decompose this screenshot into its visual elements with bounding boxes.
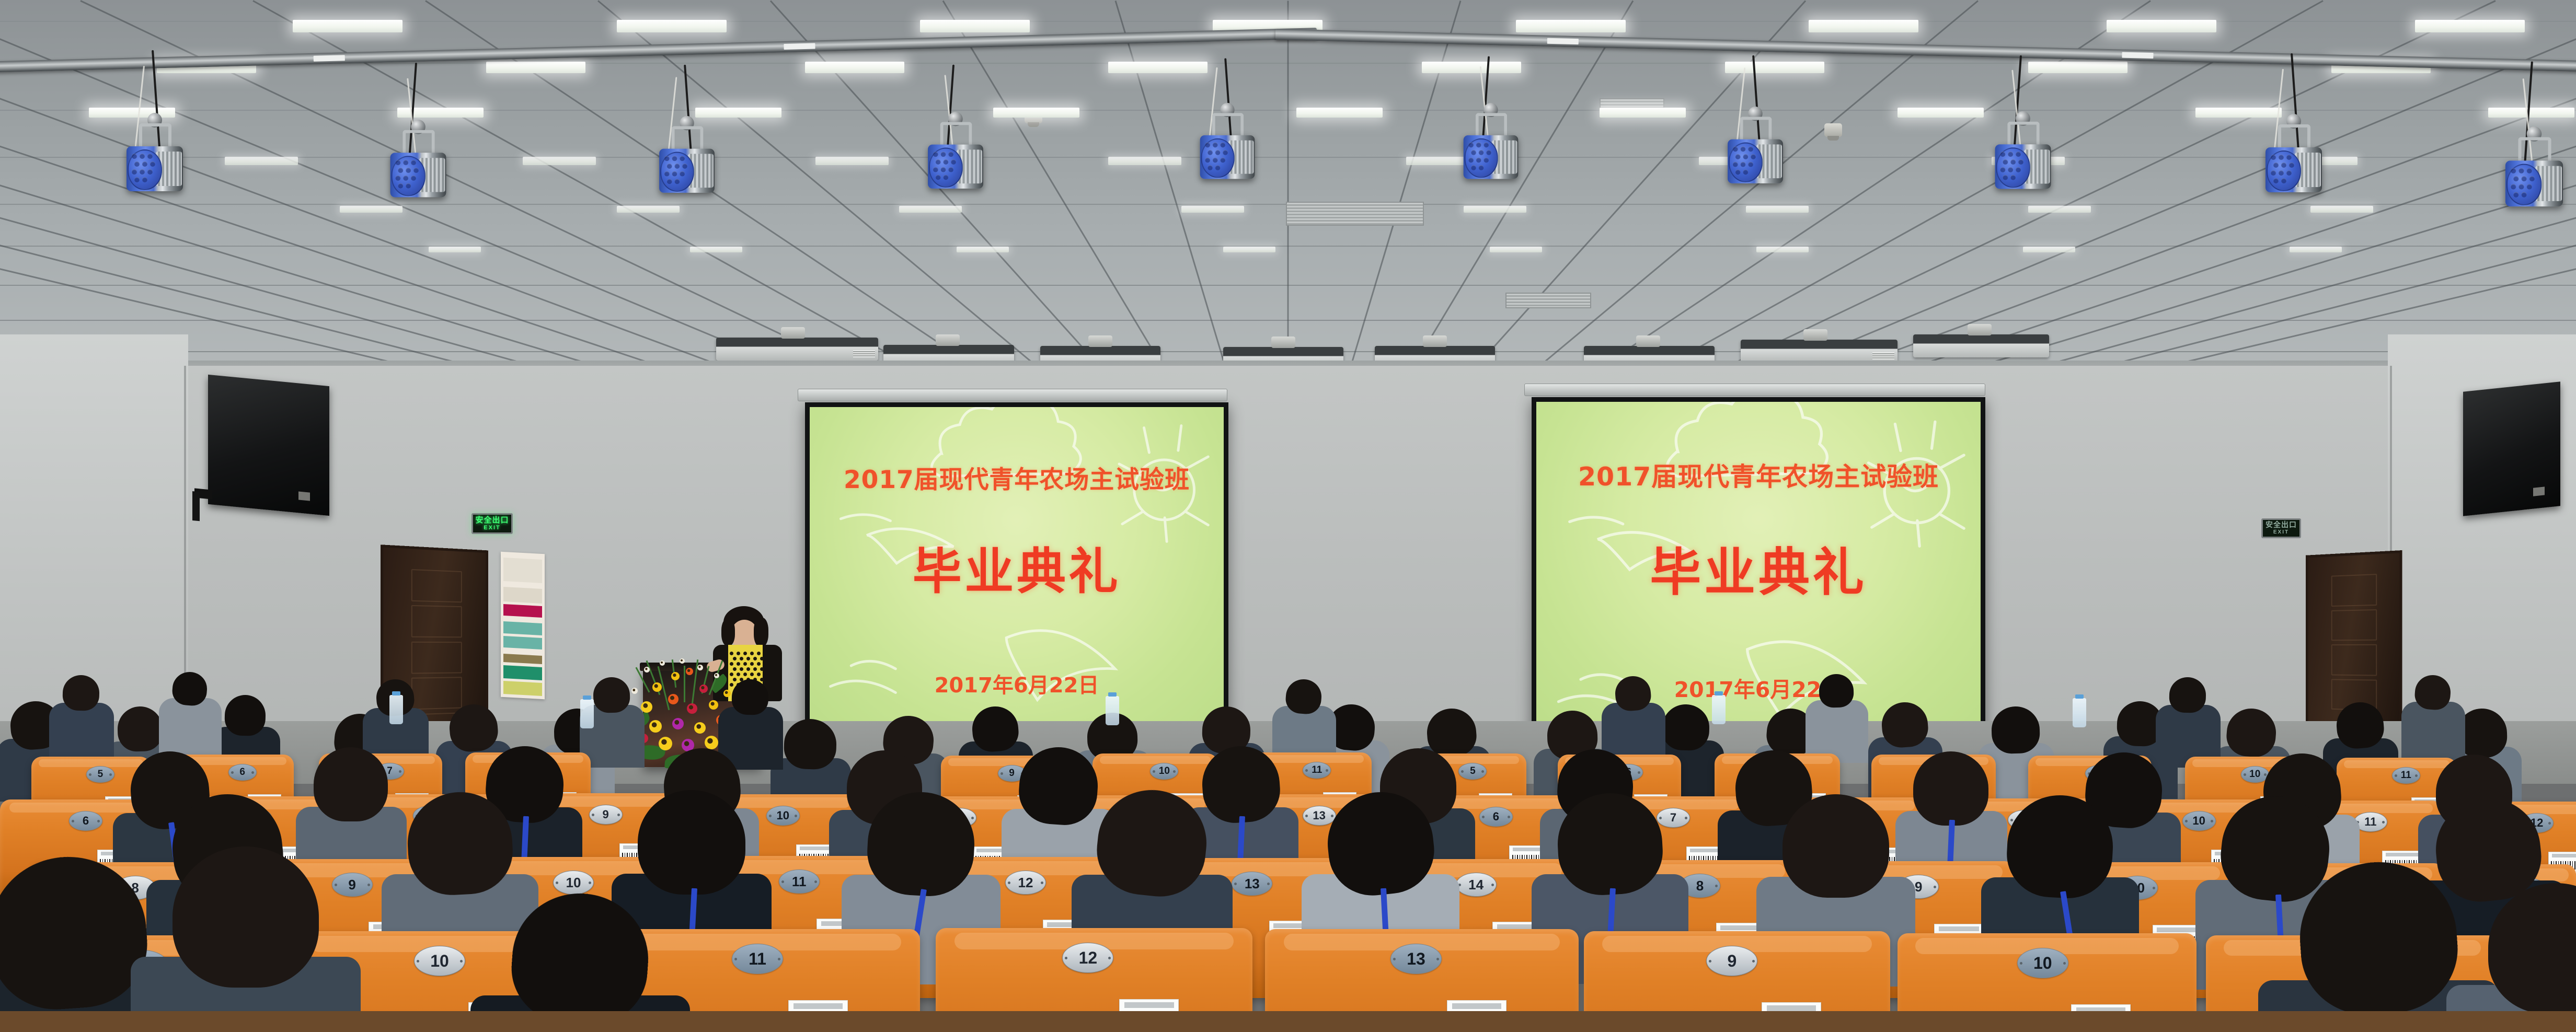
fluorescent-light bbox=[1516, 20, 1626, 32]
fluorescent-light bbox=[1108, 157, 1181, 165]
plate-rivet bbox=[589, 882, 591, 884]
asset-tag-header bbox=[2552, 854, 2576, 857]
plate-rivet bbox=[1326, 769, 1328, 772]
fluorescent-light bbox=[2415, 20, 2525, 32]
ceiling-air-vent bbox=[1505, 293, 1591, 308]
light-body bbox=[2265, 147, 2322, 192]
seat-number-label: 6 bbox=[83, 814, 89, 828]
plate-rivet bbox=[1000, 772, 1003, 775]
exit-sign-left: 安全出口 EXIT bbox=[471, 513, 513, 534]
seat-number-label: 9 bbox=[1727, 952, 1736, 971]
projector-mount bbox=[1803, 329, 1827, 341]
audience-member-head bbox=[1913, 751, 1988, 826]
audience-member-head bbox=[638, 790, 745, 895]
seat-number-label: 9 bbox=[348, 877, 355, 893]
exit-sign-chinese-label: 安全出口 bbox=[2265, 521, 2297, 529]
plate-rivet bbox=[617, 814, 620, 816]
light-body bbox=[928, 145, 983, 189]
plate-rivet bbox=[971, 817, 974, 819]
water-bottle bbox=[1106, 696, 1119, 725]
light-body bbox=[2505, 160, 2563, 206]
fluorescent-light bbox=[1725, 62, 1824, 73]
fluorescent-light bbox=[2028, 62, 2127, 73]
exit-sign-english-label: EXIT bbox=[484, 525, 500, 531]
lens-dimple-pattern bbox=[933, 152, 957, 181]
plate-rivet bbox=[109, 773, 112, 776]
bouquet-flower bbox=[649, 720, 662, 733]
stage-par-light bbox=[388, 130, 450, 208]
seat-number-plate: 12 bbox=[1005, 871, 1046, 895]
bouquet-flower bbox=[686, 668, 693, 675]
speaker-post bbox=[192, 491, 200, 521]
ceiling-projector bbox=[1741, 340, 1897, 363]
bouquet-flower bbox=[641, 701, 652, 713]
seat-number-plate: 6 bbox=[1479, 807, 1513, 827]
fluorescent-light bbox=[523, 157, 596, 165]
projector-mount bbox=[1636, 335, 1660, 347]
plate-rivet bbox=[251, 771, 254, 774]
bouquet-flower bbox=[631, 688, 638, 694]
ceiling-tile-line bbox=[0, 246, 2576, 247]
plate-rivet bbox=[1234, 883, 1237, 885]
plate-rivet bbox=[1436, 958, 1439, 960]
bouquet-flower bbox=[687, 703, 697, 714]
plate-rivet bbox=[1482, 816, 1485, 818]
door-panel bbox=[411, 677, 462, 710]
seat-number-plate: 7 bbox=[1657, 808, 1690, 828]
plate-rivet bbox=[1305, 769, 1308, 772]
plate-rivet bbox=[1638, 771, 1640, 774]
plate-rivet bbox=[1709, 960, 1711, 963]
lens-dimple-pattern bbox=[2271, 155, 2295, 185]
speaker-badge bbox=[298, 492, 310, 501]
seat-number-label: 9 bbox=[603, 808, 609, 821]
seat-number-plate: 6 bbox=[228, 764, 257, 781]
seat-number-label: 9 bbox=[1915, 879, 1922, 895]
bouquet-flower bbox=[714, 673, 719, 678]
asset-tag-header bbox=[1452, 1003, 1501, 1009]
plate-rivet bbox=[1108, 957, 1111, 959]
seat-number-plate: 11 bbox=[1303, 762, 1331, 779]
left-screen-surface: 2017届现代青年农场主试验班 毕业典礼 2017年6月22日 bbox=[810, 407, 1224, 731]
water-bottle bbox=[1712, 695, 1726, 724]
fluorescent-light bbox=[1490, 247, 1542, 252]
seat-number-plate: 13 bbox=[1232, 872, 1272, 896]
bouquet-flower bbox=[644, 667, 650, 672]
light-body bbox=[659, 149, 715, 193]
projector-mount bbox=[936, 334, 960, 346]
fluorescent-light bbox=[695, 108, 781, 118]
fluorescent-light bbox=[1746, 206, 1809, 213]
lens-dimple-pattern bbox=[2511, 168, 2535, 199]
fluorescent-light bbox=[1464, 206, 1526, 213]
fluorescent-light bbox=[2028, 206, 2091, 213]
light-body bbox=[390, 153, 446, 197]
seat-number-label: 9 bbox=[1009, 768, 1015, 779]
bottle-cap bbox=[1108, 692, 1117, 697]
lens-dimple-pattern bbox=[1733, 146, 1756, 176]
plate-rivet bbox=[231, 771, 234, 774]
water-bottle bbox=[389, 695, 403, 724]
lens-dimple-pattern bbox=[664, 156, 688, 185]
fluorescent-light bbox=[1897, 108, 1984, 118]
slide-title: 2017届现代青年农场主试验班 bbox=[844, 459, 1190, 495]
plate-rivet bbox=[1685, 817, 1687, 819]
seat-number-label: 12 bbox=[1018, 875, 1033, 891]
bouquet-flower bbox=[660, 660, 665, 666]
bottle-cap bbox=[2075, 694, 2084, 699]
stage-par-light bbox=[1198, 113, 1258, 189]
plate-rivet bbox=[814, 880, 817, 883]
plate-rivet bbox=[1659, 817, 1662, 819]
plate-rivet bbox=[417, 960, 419, 963]
seat-number-label: 11 bbox=[749, 949, 766, 969]
fluorescent-light bbox=[293, 20, 402, 32]
plate-rivet bbox=[399, 770, 401, 773]
seat-number-plate: 13 bbox=[1390, 944, 1442, 974]
fluorescent-light bbox=[815, 157, 889, 165]
fluorescent-light bbox=[1756, 247, 1809, 252]
seat-number-plate: 13 bbox=[1303, 806, 1336, 826]
projector-mount bbox=[1968, 324, 1992, 335]
seat-number-label: 11 bbox=[2401, 770, 2411, 781]
ceiling-tile-line bbox=[0, 63, 2576, 64]
plate-rivet bbox=[2395, 774, 2397, 777]
ceiling-tile-line bbox=[0, 110, 2576, 111]
plate-rivet bbox=[1491, 884, 1494, 886]
plate-rivet bbox=[2211, 820, 2213, 822]
stage-par-light bbox=[926, 122, 986, 199]
fluorescent-light bbox=[1600, 108, 1686, 118]
plate-rivet bbox=[1752, 960, 1755, 963]
audience-member-head bbox=[117, 706, 163, 752]
seat-number-plate: 11 bbox=[732, 944, 783, 974]
audience-member-head bbox=[1991, 706, 2040, 754]
plate-rivet bbox=[1065, 957, 1067, 959]
plate-rivet bbox=[1393, 958, 1396, 960]
audience-member-head bbox=[1819, 674, 1854, 708]
fluorescent-light bbox=[899, 206, 962, 213]
plate-rivet bbox=[2264, 773, 2267, 776]
projector-vent bbox=[853, 350, 875, 357]
fluorescent-light bbox=[2023, 247, 2075, 252]
bouquet-flower bbox=[709, 700, 718, 710]
wall-speaker bbox=[208, 375, 329, 516]
speaker-badge bbox=[2533, 487, 2545, 496]
plate-rivet bbox=[1173, 770, 1176, 773]
light-body bbox=[1464, 135, 1519, 179]
seat-number-label: 10 bbox=[1159, 766, 1170, 777]
bouquet-flower bbox=[672, 718, 684, 729]
exit-sign-right: 安全出口 EXIT bbox=[2261, 518, 2301, 538]
audience-member-head bbox=[1782, 794, 1889, 898]
seat-number-plate: 14 bbox=[1456, 873, 1497, 897]
smoke-detector-icon bbox=[1824, 123, 1842, 137]
seat-number-plate: 10 bbox=[414, 946, 465, 976]
audience-member-head bbox=[731, 679, 769, 715]
seat-number-label: 7 bbox=[387, 766, 393, 777]
slide-main-heading: 毕业典礼 bbox=[913, 532, 1121, 603]
seat-number-label: 5 bbox=[98, 769, 103, 780]
poster-row bbox=[503, 587, 542, 604]
plate-rivet bbox=[367, 884, 370, 886]
fluorescent-light bbox=[805, 62, 904, 73]
seat-number-label: 13 bbox=[1313, 809, 1325, 822]
ceiling-tile-line bbox=[0, 285, 2576, 286]
seat-number-label: 6 bbox=[1493, 810, 1499, 824]
left-slide-text: 2017届现代青年农场主试验班 毕业典礼 2017年6月22日 bbox=[810, 407, 1224, 731]
fluorescent-light bbox=[993, 108, 1079, 118]
seat-highlight bbox=[9, 803, 147, 813]
audience-member-head bbox=[224, 694, 266, 736]
truss-label bbox=[1547, 38, 1579, 44]
lens-dimple-pattern bbox=[132, 154, 156, 184]
truss-label bbox=[784, 43, 815, 50]
plate-rivet bbox=[2382, 821, 2385, 824]
asset-tag-header bbox=[2386, 853, 2418, 856]
ceiling-projector bbox=[716, 338, 878, 361]
seat-number-plate: 10 bbox=[2017, 948, 2068, 978]
door-panel bbox=[2331, 609, 2377, 641]
wall-speaker bbox=[2463, 381, 2560, 516]
plate-rivet bbox=[1008, 882, 1010, 884]
auditorium-scene: 安全出口 EXIT 安全出口 EXIT bbox=[0, 0, 2576, 1032]
slide-date: 2017年6月22日 bbox=[935, 668, 1099, 699]
bouquet-stem bbox=[684, 666, 685, 702]
bouquet-flower bbox=[659, 737, 672, 750]
door-panel bbox=[411, 569, 462, 602]
asset-tag-header bbox=[1939, 926, 1979, 931]
seat-number-plate: 11 bbox=[2392, 767, 2420, 784]
plate-rivet bbox=[1934, 886, 1936, 888]
stage-par-light bbox=[657, 126, 718, 203]
fluorescent-light bbox=[486, 62, 585, 73]
door-panel bbox=[2331, 644, 2377, 676]
ceiling-tile-line bbox=[0, 320, 2576, 321]
seat-highlight bbox=[2344, 760, 2449, 768]
fluorescent-light bbox=[617, 206, 680, 213]
bouquet-flower bbox=[668, 694, 678, 704]
fluorescent-light bbox=[1223, 247, 1275, 252]
audience-member-head bbox=[314, 747, 388, 821]
slide-main-heading: 毕业典礼 bbox=[1650, 531, 1867, 605]
fluorescent-light bbox=[1108, 62, 1207, 73]
plate-rivet bbox=[2153, 887, 2155, 889]
seat-number-label: 10 bbox=[566, 875, 581, 891]
stage-par-light bbox=[1726, 117, 1786, 194]
poster-row bbox=[503, 622, 542, 635]
bouquet-flower bbox=[723, 690, 731, 697]
plate-rivet bbox=[89, 773, 91, 776]
seat-number-label: 13 bbox=[1245, 876, 1260, 892]
plate-rivet bbox=[97, 820, 100, 822]
plate-rivet bbox=[592, 814, 594, 816]
left-screen: 2017届现代青年农场主试验班 毕业典礼 2017年6月22日 bbox=[805, 402, 1228, 736]
exit-sign-chinese-label: 安全出口 bbox=[475, 516, 509, 524]
bouquet-flower bbox=[652, 682, 662, 692]
seat-number-label: 10 bbox=[430, 952, 449, 971]
fluorescent-light bbox=[957, 247, 1009, 252]
plate-rivet bbox=[2185, 820, 2188, 822]
plate-rivet bbox=[72, 820, 74, 822]
water-bottle bbox=[2073, 698, 2086, 727]
seat-number-label: 14 bbox=[1468, 877, 1483, 893]
bouquet-flower bbox=[694, 722, 706, 734]
seat-number-label: 11 bbox=[1312, 764, 1322, 776]
lens-dimple-pattern bbox=[395, 160, 419, 190]
projector-mount bbox=[1088, 335, 1112, 347]
audience-member-head bbox=[62, 675, 100, 711]
plate-rivet bbox=[1267, 883, 1270, 885]
seat-number-plate: 11 bbox=[779, 869, 820, 894]
seat-number-label: 11 bbox=[2364, 815, 2376, 829]
audience-member-shoulders bbox=[2401, 702, 2465, 764]
plate-rivet bbox=[2415, 774, 2418, 777]
plate-rivet bbox=[795, 815, 797, 817]
plate-rivet bbox=[460, 960, 463, 963]
seat-number-plate: 5 bbox=[1458, 763, 1487, 780]
bouquet-flower bbox=[699, 685, 708, 693]
lens-dimple-pattern bbox=[2000, 152, 2024, 181]
seat-number-plate: 9 bbox=[1706, 946, 1757, 976]
asset-tag-header bbox=[1767, 1005, 1816, 1011]
light-body bbox=[1995, 144, 2051, 189]
screen-roller bbox=[1524, 384, 1985, 396]
poster-row bbox=[503, 654, 542, 665]
poster-row bbox=[503, 681, 542, 696]
fluorescent-light bbox=[1181, 206, 1244, 213]
light-body bbox=[1200, 135, 1255, 179]
seat-number-label: 10 bbox=[2192, 814, 2205, 828]
plate-rivet bbox=[335, 884, 337, 886]
light-body bbox=[126, 146, 183, 191]
door-panel bbox=[411, 605, 462, 637]
door-panel bbox=[411, 642, 462, 674]
fluorescent-light bbox=[2107, 20, 2216, 32]
bottle-cap bbox=[392, 691, 401, 695]
fluorescent-light bbox=[1809, 20, 1918, 32]
seat-highlight bbox=[1100, 756, 1210, 764]
asset-tag-header bbox=[800, 847, 832, 850]
stage-par-light bbox=[2263, 124, 2325, 203]
fluorescent-light bbox=[617, 20, 727, 32]
fluorescent-light bbox=[89, 108, 175, 118]
seat-number-label: 11 bbox=[792, 874, 807, 890]
seat-number-label: 12 bbox=[1079, 948, 1098, 968]
lens-dimple-pattern bbox=[1468, 143, 1492, 172]
bottle-cap bbox=[1715, 691, 1723, 695]
seat-number-label: 7 bbox=[1670, 811, 1676, 825]
fluorescent-light bbox=[690, 247, 742, 252]
asset-tag-header bbox=[1720, 925, 1761, 930]
asset-tag-header bbox=[2157, 927, 2197, 932]
seat-number-plate: 6 bbox=[69, 811, 102, 831]
plate-rivet bbox=[1153, 770, 1155, 773]
fluorescent-light bbox=[1296, 108, 1383, 118]
fluorescent-light bbox=[2310, 206, 2373, 213]
seat-number-plate: 10 bbox=[1150, 763, 1178, 780]
bouquet-flower bbox=[671, 672, 680, 680]
plate-rivet bbox=[769, 815, 772, 817]
plate-rivet bbox=[778, 958, 780, 960]
plate-rivet bbox=[2010, 819, 2013, 821]
plate-rivet bbox=[781, 880, 784, 883]
poster-row bbox=[503, 558, 542, 583]
screen-roller bbox=[798, 389, 1227, 401]
seat-number-label: 10 bbox=[2033, 954, 2052, 973]
bottle-cap bbox=[583, 695, 592, 700]
door-panel bbox=[2331, 574, 2377, 606]
plate-rivet bbox=[1508, 816, 1510, 818]
seat-number-label: 5 bbox=[1470, 766, 1476, 777]
right-screen: 2017届现代青年农场主试验班 毕业典礼 2017年6月22日 bbox=[1532, 397, 1985, 741]
plate-rivet bbox=[1041, 882, 1043, 884]
fluorescent-light bbox=[225, 157, 298, 165]
plate-rivet bbox=[2063, 962, 2066, 965]
seat-number-plate: 12 bbox=[1062, 943, 1113, 973]
seat-number-plate: 5 bbox=[86, 766, 114, 783]
fluorescent-light bbox=[429, 247, 481, 252]
stage-par-light bbox=[124, 123, 186, 202]
stage-par-light bbox=[2503, 137, 2566, 217]
seat-number-plate: 10 bbox=[766, 806, 800, 826]
bouquet-flower bbox=[680, 658, 685, 664]
projector-mount bbox=[781, 327, 805, 339]
plate-rivet bbox=[2020, 962, 2022, 965]
plate-rivet bbox=[1481, 770, 1484, 773]
slide-date: 2017年6月22日 bbox=[1674, 672, 1843, 703]
plate-rivet bbox=[1461, 770, 1464, 773]
fluorescent-light bbox=[2195, 108, 2282, 118]
truss-label bbox=[2122, 52, 2153, 59]
seat-number-label: 8 bbox=[1696, 878, 1704, 894]
stage-par-light bbox=[1462, 113, 1521, 189]
stage-par-light bbox=[1993, 122, 2054, 200]
slide-title: 2017届现代青年农场主试验班 bbox=[1578, 456, 1939, 493]
seat-highlight bbox=[39, 759, 144, 767]
fluorescent-light bbox=[920, 20, 1030, 32]
ceiling-air-vent bbox=[1286, 202, 1424, 226]
water-bottle bbox=[580, 699, 594, 728]
plate-rivet bbox=[1305, 815, 1308, 817]
plate-rivet bbox=[556, 882, 558, 884]
seat-number-plate: 10 bbox=[2182, 811, 2216, 831]
lens-dimple-pattern bbox=[1205, 143, 1228, 172]
poster-row bbox=[503, 604, 542, 618]
fluorescent-light bbox=[2488, 108, 2574, 118]
seat-number-plate: 9 bbox=[332, 873, 373, 897]
bouquet-flower bbox=[705, 736, 718, 749]
plate-rivet bbox=[2548, 822, 2551, 825]
fluorescent-light bbox=[1422, 62, 1521, 73]
house-floor bbox=[0, 1011, 2576, 1032]
truss-label bbox=[314, 55, 345, 62]
exit-sign-english-label: EXIT bbox=[2273, 530, 2289, 535]
bouquet-flower bbox=[697, 665, 703, 670]
notice-poster bbox=[501, 552, 545, 699]
projector-vent bbox=[1872, 352, 1894, 360]
right-slide-text: 2017届现代青年农场主试验班 毕业典礼 2017年6月22日 bbox=[1536, 402, 1981, 736]
seat-number-label: 10 bbox=[777, 809, 789, 822]
audience-member-head bbox=[1662, 704, 1710, 751]
plate-rivet bbox=[734, 958, 737, 960]
plate-rivet bbox=[2244, 773, 2246, 776]
poster-row bbox=[503, 636, 542, 650]
projector-mount bbox=[1271, 337, 1295, 348]
presenter-hair-side bbox=[754, 618, 768, 647]
ceiling-tile-line bbox=[0, 157, 2576, 158]
seat-number-label: 13 bbox=[1407, 949, 1425, 969]
